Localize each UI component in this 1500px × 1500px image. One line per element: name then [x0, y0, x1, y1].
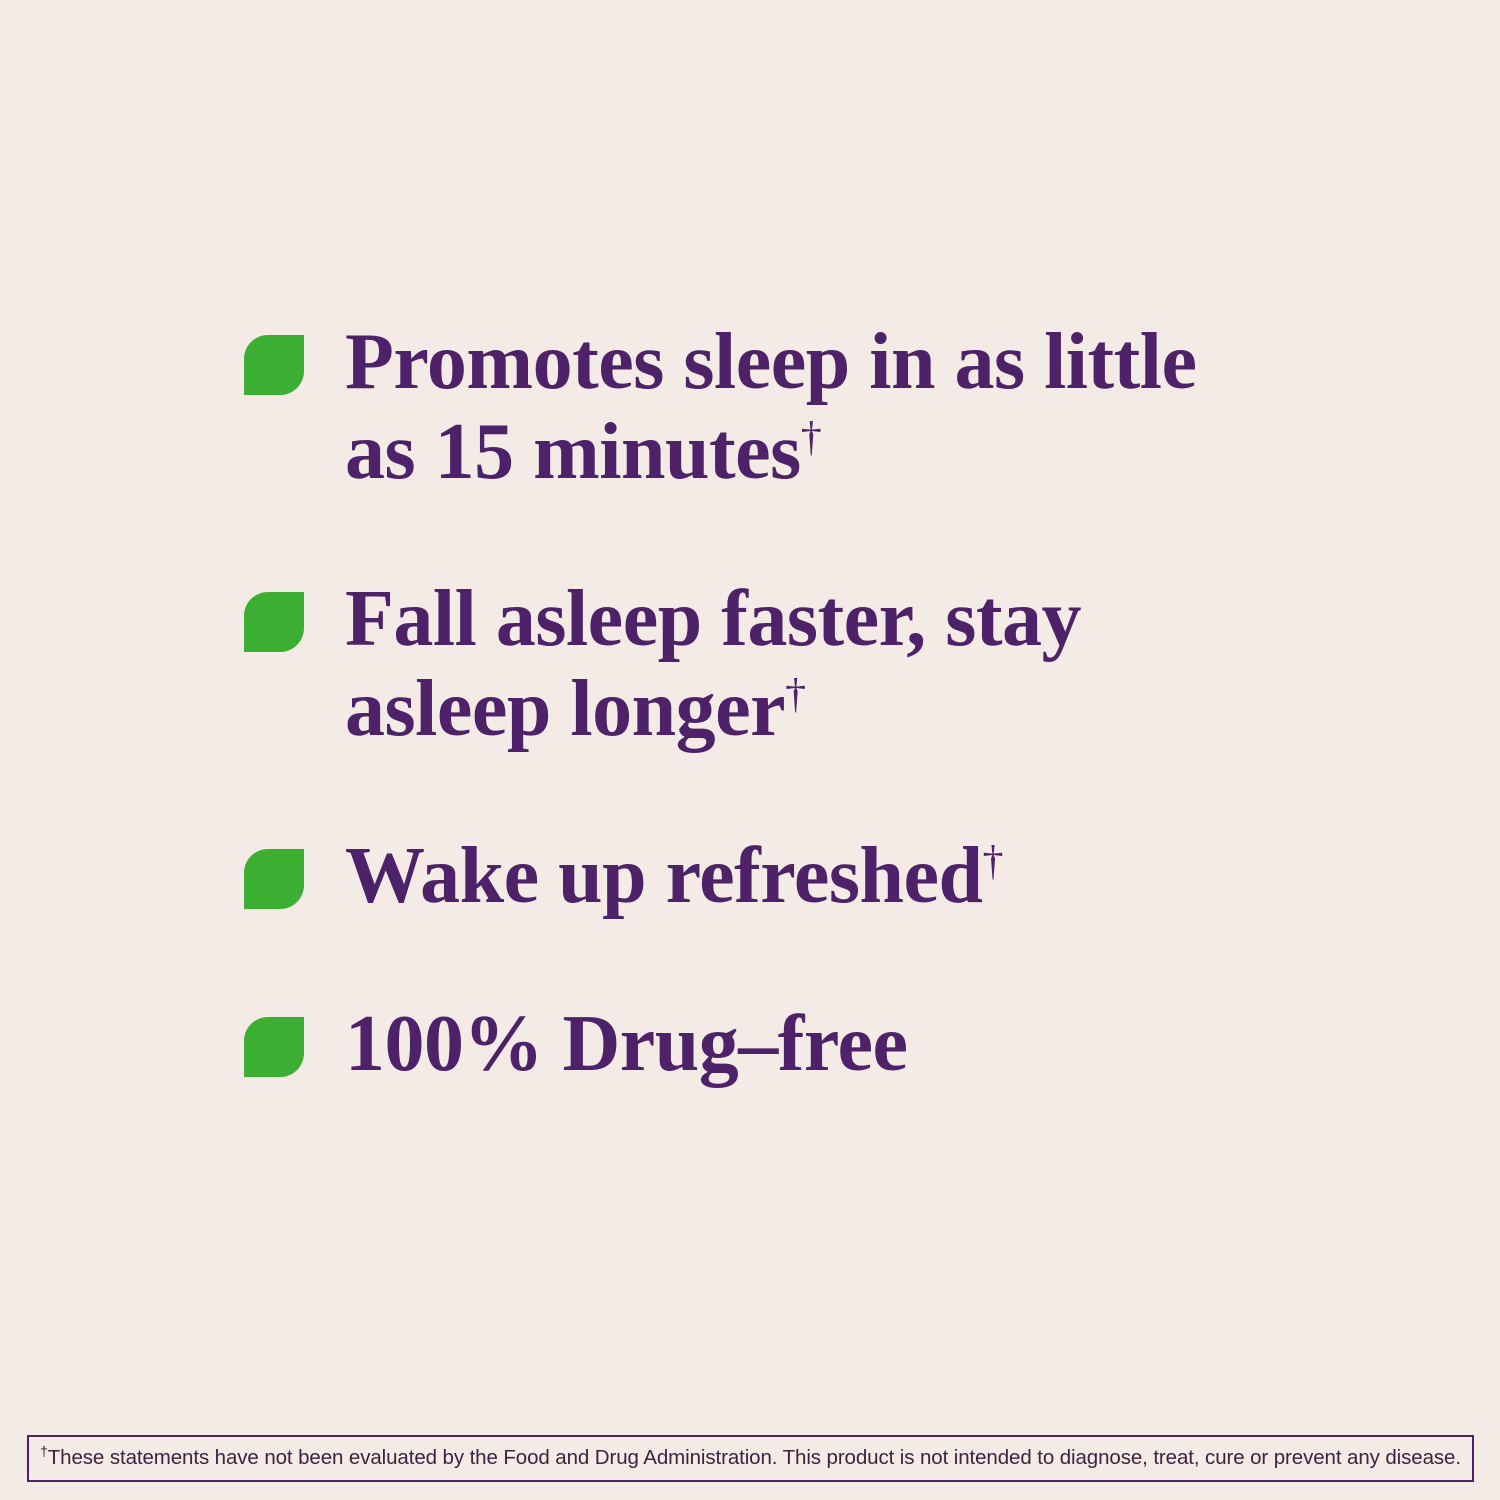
benefit-line-2: as 15 minutes — [345, 408, 801, 496]
benefit-line-1: Promotes sleep in as little — [345, 318, 1197, 406]
leaf-icon — [243, 334, 305, 396]
benefit-text: 100% Drug–free — [345, 1000, 908, 1090]
leaf-icon — [243, 848, 305, 910]
footnote-disclaimer-text: †These statements have not been evaluate… — [40, 1448, 1461, 1469]
benefit-text: Promotes sleep in as little as 15 minute… — [345, 318, 1197, 497]
benefit-item: Promotes sleep in as little as 15 minute… — [243, 318, 1443, 497]
benefit-item: Fall asleep faster, stay asleep longer† — [243, 575, 1443, 754]
footnote-disclaimer-box: †These statements have not been evaluate… — [27, 1435, 1474, 1482]
footnote-marker: † — [801, 414, 822, 460]
footnote-marker: † — [40, 1443, 48, 1459]
benefit-line-2: asleep longer — [345, 665, 785, 753]
benefit-line-1: Fall asleep faster, stay — [345, 575, 1081, 663]
footnote-marker: † — [785, 671, 806, 717]
benefit-item: 100% Drug–free — [243, 1000, 1443, 1090]
product-benefits-panel: Promotes sleep in as little as 15 minute… — [0, 0, 1500, 1500]
benefit-line-1: Wake up refreshed — [345, 832, 982, 920]
benefit-line-1: 100% Drug–free — [345, 1000, 908, 1088]
leaf-icon — [243, 1016, 305, 1078]
footnote-marker: † — [982, 839, 1003, 885]
benefits-list: Promotes sleep in as little as 15 minute… — [243, 318, 1443, 1090]
benefit-text: Wake up refreshed† — [345, 832, 1003, 922]
footnote-body: These statements have not been evaluated… — [48, 1446, 1461, 1469]
benefit-text: Fall asleep faster, stay asleep longer† — [345, 575, 1081, 754]
benefit-item: Wake up refreshed† — [243, 832, 1443, 922]
leaf-icon — [243, 591, 305, 653]
